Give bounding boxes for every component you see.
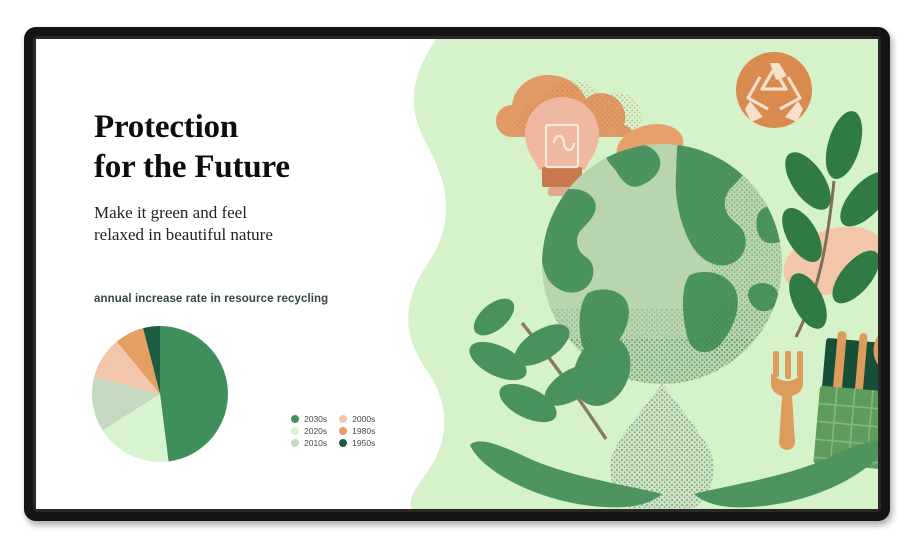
monitor-screen: Protection for the Future Make it green … bbox=[36, 39, 878, 509]
monitor-bezel: Protection for the Future Make it green … bbox=[24, 27, 890, 521]
page-title: Protection for the Future bbox=[94, 107, 394, 188]
pie-chart: 2030s2000s2020s1980s2010s1950s bbox=[88, 314, 338, 474]
subtitle-line-2: relaxed in beautiful nature bbox=[94, 225, 273, 244]
legend-label: 2030s bbox=[304, 414, 327, 424]
legend-swatch-icon bbox=[339, 439, 347, 447]
legend-item-1980s: 1980s bbox=[339, 426, 375, 436]
legend-label: 2010s bbox=[304, 438, 327, 448]
chart-legend: 2030s2000s2020s1980s2010s1950s bbox=[291, 414, 375, 448]
pie-slices bbox=[92, 326, 228, 462]
legend-label: 1950s bbox=[352, 438, 375, 448]
legend-item-2020s: 2020s bbox=[291, 426, 327, 436]
legend-label: 2000s bbox=[352, 414, 375, 424]
leaf-branch-right bbox=[774, 107, 878, 337]
subtitle-line-1: Make it green and feel bbox=[94, 203, 247, 222]
title-line-1: Protection bbox=[94, 109, 238, 145]
legend-item-1950s: 1950s bbox=[339, 438, 375, 448]
slide-text-column: Protection for the Future Make it green … bbox=[94, 107, 394, 246]
legend-item-2010s: 2010s bbox=[291, 438, 327, 448]
monitor-bezel-inner: Protection for the Future Make it green … bbox=[33, 36, 881, 512]
fork-icon bbox=[771, 351, 803, 450]
legend-item-2000s: 2000s bbox=[339, 414, 375, 424]
chart-title: annual increase rate in resource recycli… bbox=[94, 293, 394, 305]
legend-label: 2020s bbox=[304, 426, 327, 436]
legend-item-2030s: 2030s bbox=[291, 414, 327, 424]
pie-slice-2030s bbox=[160, 326, 228, 461]
legend-swatch-icon bbox=[291, 415, 299, 423]
screenshot-root: Protection for the Future Make it green … bbox=[0, 0, 912, 546]
title-line-2: for the Future bbox=[94, 149, 290, 185]
legend-swatch-icon bbox=[339, 415, 347, 423]
legend-label: 1980s bbox=[352, 426, 375, 436]
page-subtitle: Make it green and feel relaxed in beauti… bbox=[94, 202, 394, 246]
recycle-icon bbox=[736, 52, 812, 128]
legend-swatch-icon bbox=[291, 427, 299, 435]
eco-earth-illustration bbox=[436, 39, 878, 509]
legend-swatch-icon bbox=[339, 427, 347, 435]
pie-chart-svg bbox=[88, 314, 268, 474]
legend-swatch-icon bbox=[291, 439, 299, 447]
